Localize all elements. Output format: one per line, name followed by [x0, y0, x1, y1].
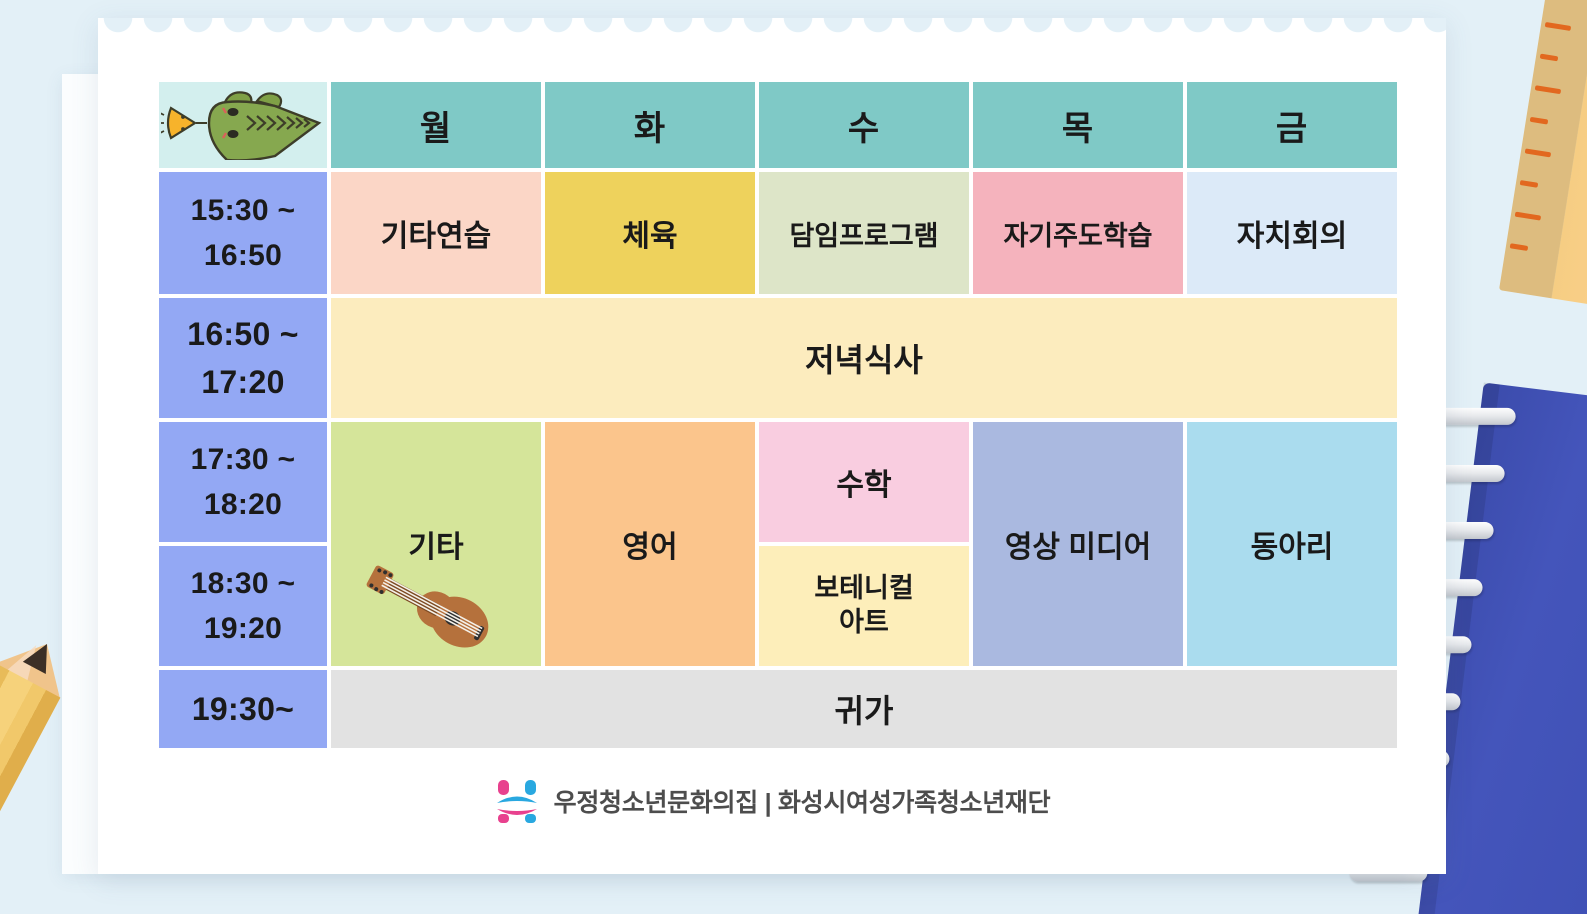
time-line-1: 18:30 ~ [159, 561, 327, 606]
class-cell-mon-1[interactable]: 기타연습 [331, 172, 541, 294]
class-cell-tue-1[interactable]: 체육 [545, 172, 755, 294]
class-label-line-2: 아트 [759, 606, 969, 640]
mascot-cell [159, 82, 327, 168]
day-header-wed: 수 [759, 82, 969, 168]
time-line-2: 19:20 [159, 606, 327, 651]
time-slot-5: 19:30~ [159, 670, 327, 748]
table-row: 17:30 ~ 18:20 기타 [159, 422, 1397, 542]
class-cell-wed-math[interactable]: 수학 [759, 422, 969, 542]
time-line-2: 18:20 [159, 482, 327, 527]
footer: 우정청소년문화의집 | 화성시여성가족청소년재단 [98, 776, 1446, 826]
day-header-thu: 목 [973, 82, 1183, 168]
time-line-1: 16:50 ~ [159, 310, 327, 358]
time-line-2: 17:20 [159, 358, 327, 406]
class-label-line-1: 보테니컬 [759, 572, 969, 606]
time-slot-1: 15:30 ~ 16:50 [159, 172, 327, 294]
paper-sheet: 월 화 수 목 금 15:30 ~ 16:50 기타연습 체육 [98, 18, 1446, 874]
guitar-icon [359, 556, 507, 660]
crocodile-icon [161, 86, 325, 160]
time-line-1: 17:30 ~ [159, 437, 327, 482]
class-cell-wed-1[interactable]: 담임프로그램 [759, 172, 969, 294]
time-line-1: 19:30~ [159, 685, 327, 733]
notebook-ring [1438, 408, 1516, 425]
table-row: 19:30~ 귀가 [159, 670, 1397, 748]
time-slot-3: 17:30 ~ 18:20 [159, 422, 327, 542]
class-cell-thu-media[interactable]: 영상 미디어 [973, 422, 1183, 666]
footer-text: 우정청소년문화의집 | 화성시여성가족청소년재단 [554, 783, 1051, 819]
woojeong-logo-icon [494, 776, 540, 826]
pencil-body [0, 663, 60, 914]
class-cell-dinner[interactable]: 저녁식사 [331, 298, 1397, 418]
scalloped-edge [98, 18, 1446, 40]
class-cell-fri-club[interactable]: 동아리 [1187, 422, 1397, 666]
ruler-shadow [1499, 0, 1587, 298]
table-row: 15:30 ~ 16:50 기타연습 체육 담임프로그램 자기주도학습 자치회의 [159, 172, 1397, 294]
day-header-tue: 화 [545, 82, 755, 168]
timetable: 월 화 수 목 금 15:30 ~ 16:50 기타연습 체육 [155, 78, 1373, 752]
class-cell-thu-1[interactable]: 자기주도학습 [973, 172, 1183, 294]
class-cell-dismissal[interactable]: 귀가 [331, 670, 1397, 748]
class-cell-wed-botanical[interactable]: 보테니컬 아트 [759, 546, 969, 666]
class-cell-mon-guitar[interactable]: 기타 [331, 422, 541, 666]
day-header-fri: 금 [1187, 82, 1397, 168]
time-line-2: 16:50 [159, 233, 327, 278]
table-row: 16:50 ~ 17:20 저녁식사 [159, 298, 1397, 418]
ruler-icon [1499, 0, 1587, 308]
timetable-poster: 월 화 수 목 금 15:30 ~ 16:50 기타연습 체육 [0, 0, 1587, 914]
day-header-mon: 월 [331, 82, 541, 168]
time-slot-2: 16:50 ~ 17:20 [159, 298, 327, 418]
time-line-1: 15:30 ~ [159, 188, 327, 233]
class-cell-tue-english[interactable]: 영어 [545, 422, 755, 666]
time-slot-4: 18:30 ~ 19:20 [159, 546, 327, 666]
table-header-row: 월 화 수 목 금 [159, 82, 1397, 168]
class-cell-fri-1[interactable]: 자치회의 [1187, 172, 1397, 294]
